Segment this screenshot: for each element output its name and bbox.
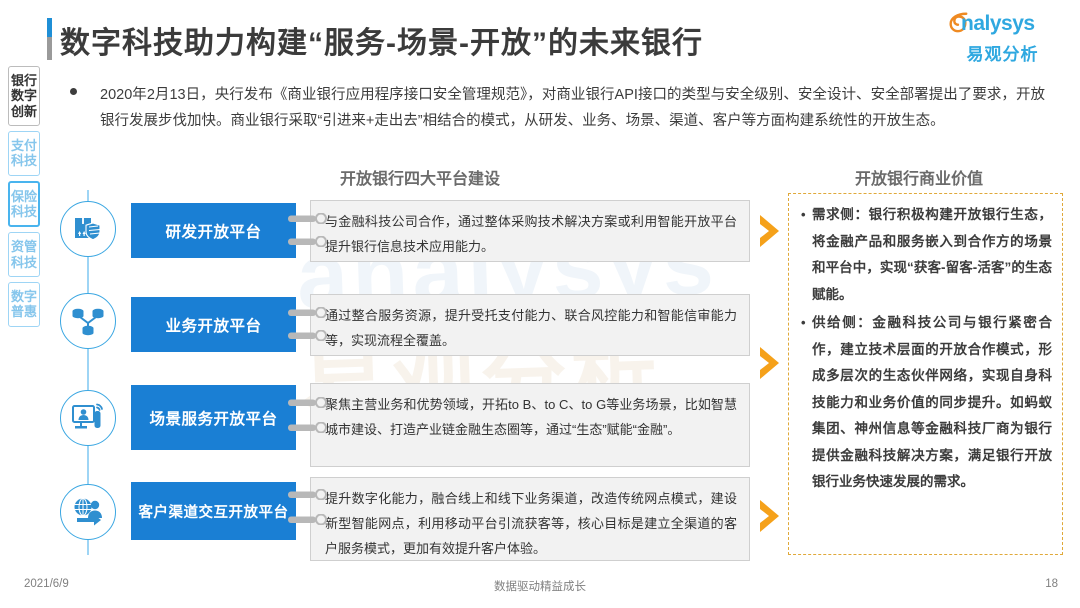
value-item-text: 供给侧：金融科技公司与银行紧密合作，建立技术层面的开放合作模式，形成多层次的生态…: [812, 310, 1052, 496]
value-bullet-icon: •: [801, 310, 812, 496]
platform-description-2: 通过整合服务资源，提升受托支付能力、联合风控能力和智能信审能力等，实现流程全覆盖…: [310, 294, 750, 356]
platform-name: 场景服务开放平台: [149, 407, 277, 429]
chevron-right-icon: [757, 345, 783, 381]
link-connector-icon: [288, 489, 332, 500]
title-accent-bar: [47, 18, 52, 60]
chevron-right-icon: [757, 213, 783, 249]
sidebar-item-label: 数字普惠: [9, 289, 39, 320]
platform-name: 研发开放平台: [165, 220, 261, 242]
footer-slogan: 数据驱动精益成长: [0, 578, 1080, 594]
right-column-header: 开放银行商业价值: [855, 165, 983, 189]
link-connector-icon: [288, 397, 332, 408]
platform-description-3: 聚焦主营业务和优势领域，开拓to B、to C、to G等业务场景，比如智慧城市…: [310, 383, 750, 467]
logo-chinese-name: 易观分析: [945, 46, 1060, 63]
globe-user-icon-container: [60, 484, 116, 540]
sidebar-item-label: 保险科技: [10, 189, 38, 220]
globe-user-icon: [71, 496, 105, 528]
link-connector-icon: [288, 307, 332, 318]
database-network-icon: [71, 306, 105, 336]
link-connector-icon: [288, 236, 332, 247]
left-column-header: 开放银行四大平台建设: [340, 165, 500, 189]
sidebar-item-label: 银行数字创新: [9, 73, 39, 119]
sidebar-item-label: 支付科技: [9, 138, 39, 169]
package-shield-icon: [71, 212, 105, 246]
sidebar[interactable]: 银行数字创新 支付科技 保险科技 资管科技 数字普惠: [8, 66, 42, 332]
value-bullet-icon: •: [801, 202, 812, 308]
intro-paragraph: 2020年2月13日，央行发布《商业银行应用程序接口安全管理规范》，对商业银行A…: [100, 82, 1045, 134]
link-connector-icon: [288, 213, 332, 224]
sidebar-item-label: 资管科技: [9, 239, 39, 270]
platform-description-4: 提升数字化能力，融合线上和线下业务渠道，改造传统网点模式，建设新型智能网点，利用…: [310, 477, 750, 561]
sidebar-item-bank-digital-innovation[interactable]: 银行数字创新: [8, 66, 40, 126]
platform-description-1: 与金融科技公司合作，通过整体采购技术解决方案或利用智能开放平台提升银行信息技术应…: [310, 200, 750, 262]
link-connector-icon: [288, 514, 332, 525]
package-shield-icon-container: [60, 201, 116, 257]
platform-button-3[interactable]: 场景服务开放平台: [131, 385, 296, 450]
platform-button-4[interactable]: 客户渠道交互开放平台: [131, 482, 296, 540]
logo-wordmark: nalysys: [961, 13, 1035, 34]
sidebar-item-asset-management-tech[interactable]: 资管科技: [8, 232, 40, 277]
user-monitor-signal-icon: [71, 402, 105, 434]
platform-button-2[interactable]: 业务开放平台: [131, 297, 296, 352]
footer-page-number: 18: [1045, 578, 1058, 590]
link-connector-icon: [288, 330, 332, 341]
value-list-item: • 需求侧：银行积极构建开放银行生态，将金融产品和服务嵌入到合作方的场景和平台中…: [801, 202, 1052, 308]
platform-name: 业务开放平台: [165, 314, 261, 336]
sidebar-item-digital-inclusive-finance[interactable]: 数字普惠: [8, 282, 40, 327]
link-connector-icon: [288, 422, 332, 433]
analysys-logo: nalysys 易观分析: [945, 12, 1060, 63]
database-network-icon-container: [60, 293, 116, 349]
sidebar-item-payment-tech[interactable]: 支付科技: [8, 131, 40, 176]
page-title: 数字科技助力构建“服务-场景-开放”的未来银行: [60, 18, 703, 62]
intro-bullet-icon: [70, 88, 77, 95]
chevron-right-icon: [757, 498, 783, 534]
value-list-item: • 供给侧：金融科技公司与银行紧密合作，建立技术层面的开放合作模式，形成多层次的…: [801, 310, 1052, 496]
user-monitor-signal-icon-container: [60, 390, 116, 446]
platform-name: 客户渠道交互开放平台: [139, 501, 289, 522]
sidebar-item-insurance-tech[interactable]: 保险科技: [8, 181, 40, 228]
value-item-text: 需求侧：银行积极构建开放银行生态，将金融产品和服务嵌入到合作方的场景和平台中，实…: [812, 202, 1052, 308]
platform-button-1[interactable]: 研发开放平台: [131, 203, 296, 258]
business-value-panel: • 需求侧：银行积极构建开放银行生态，将金融产品和服务嵌入到合作方的场景和平台中…: [788, 193, 1063, 555]
